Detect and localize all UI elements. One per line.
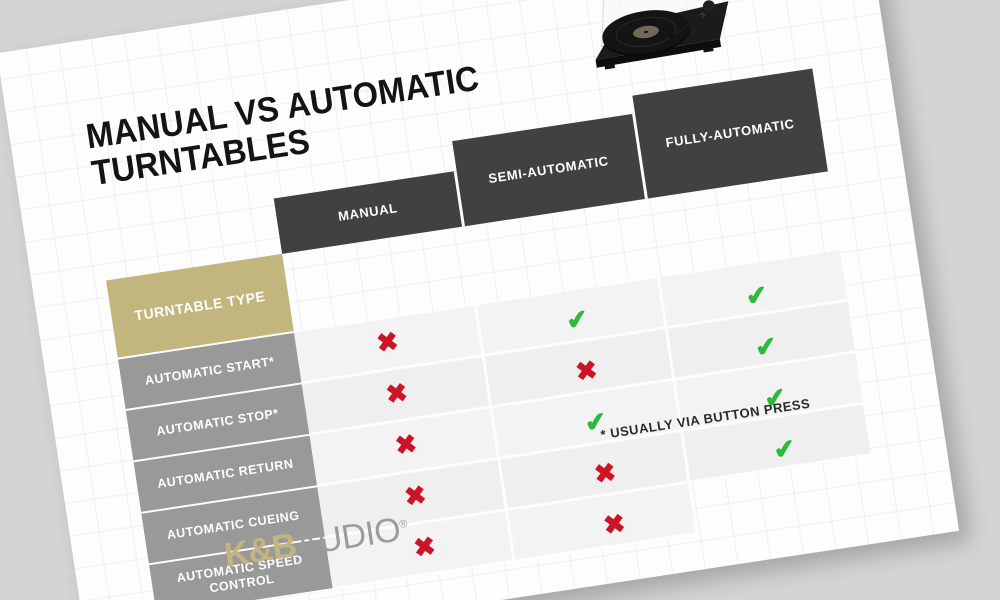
registered-trademark-icon: ® (398, 518, 407, 531)
mark-start-manual: ✖ (375, 327, 400, 356)
mark-start-fully: ✔ (744, 280, 769, 309)
mark-stop-fully: ✔ (753, 332, 778, 361)
card-content: MANUAL VS AUTOMATIC TURNTABLES (0, 0, 959, 600)
infographic-canvas: MANUAL VS AUTOMATIC TURNTABLES (0, 0, 1000, 600)
mark-cueing-manual: ✖ (402, 481, 427, 510)
mark-cueing-fully: ✔ (772, 434, 797, 463)
mark-stop-semi: ✖ (574, 356, 599, 385)
mark-return-manual: ✖ (393, 430, 418, 459)
mark-speed-semi: ✖ (601, 509, 626, 538)
mark-cueing-semi: ✖ (592, 458, 617, 487)
comparison-table: MANUAL SEMI-AUTOMATIC FULLY-AUTOMATIC TU… (96, 106, 879, 600)
mark-speed-manual: ✖ (412, 532, 437, 561)
mark-start-semi: ✔ (564, 304, 589, 333)
paper-card: MANUAL VS AUTOMATIC TURNTABLES (0, 0, 959, 600)
mark-stop-manual: ✖ (384, 378, 409, 407)
